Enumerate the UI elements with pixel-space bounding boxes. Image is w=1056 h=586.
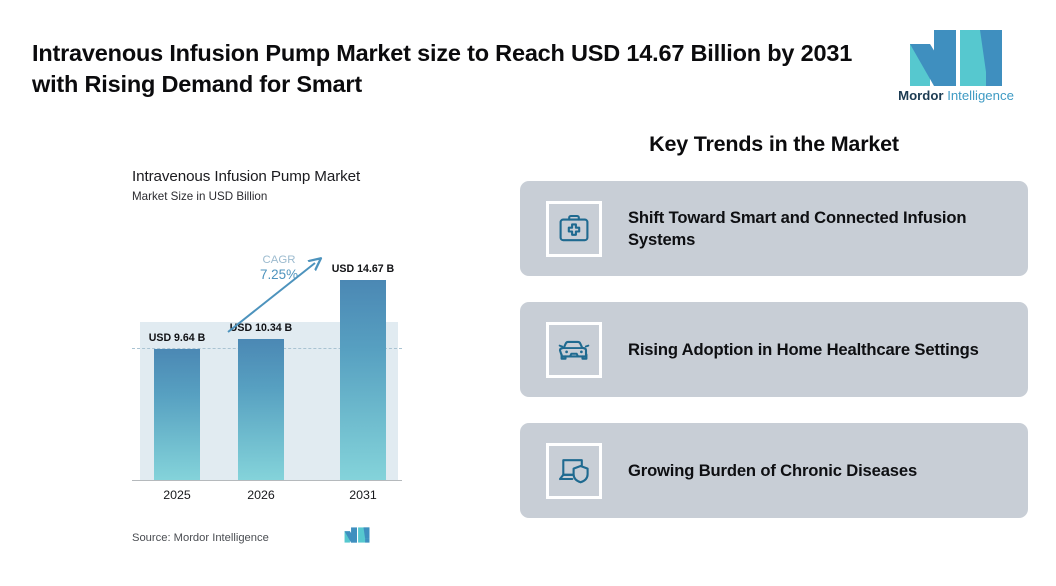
- chart-title: Intravenous Infusion Pump Market: [132, 168, 360, 185]
- brand-word-primary: Mordor: [898, 88, 943, 103]
- brand-word-secondary: Intelligence: [947, 88, 1014, 103]
- key-trends-panel: Key Trends in the Market Shift Toward Sm…: [520, 132, 1028, 518]
- brand-wordmark: Mordor Intelligence: [888, 89, 1024, 102]
- page-title: Intravenous Infusion Pump Market size to…: [32, 38, 862, 101]
- trend-card-label: Shift Toward Smart and Connected Infusio…: [628, 207, 998, 251]
- laptop-shield-icon: [557, 454, 591, 488]
- trend-card-chronic-diseases[interactable]: Growing Burden of Chronic Diseases: [520, 423, 1028, 518]
- cagr-annotation: CAGR 7.25%: [248, 254, 310, 283]
- x-tick-2026: 2026: [226, 488, 296, 502]
- cagr-value: 7.25%: [248, 267, 310, 283]
- mordor-intelligence-mark: [908, 30, 1004, 86]
- chart-plot-area: USD 9.64 B USD 10.34 B USD 14.67 B CAGR …: [132, 232, 402, 502]
- key-trends-heading: Key Trends in the Market: [520, 132, 1028, 157]
- chart-subtitle: Market Size in USD Billion: [132, 190, 267, 203]
- trend-card-smart-connected[interactable]: Shift Toward Smart and Connected Infusio…: [520, 181, 1028, 276]
- trend-card-label: Rising Adoption in Home Healthcare Setti…: [628, 339, 979, 361]
- trend-icon-frame: [546, 201, 602, 257]
- x-tick-2031: 2031: [328, 488, 398, 502]
- x-tick-2025: 2025: [142, 488, 212, 502]
- trend-card-label: Growing Burden of Chronic Diseases: [628, 460, 917, 482]
- trend-icon-frame: [546, 322, 602, 378]
- chart-source-label: Source: Mordor Intelligence: [132, 532, 269, 544]
- header: Intravenous Infusion Pump Market size to…: [0, 0, 1056, 124]
- brand-logo: Mordor Intelligence: [888, 30, 1024, 108]
- infographic-page: Intravenous Infusion Pump Market size to…: [0, 0, 1056, 586]
- chart-panel: Intravenous Infusion Pump Market Market …: [118, 160, 428, 560]
- source-logo-icon: [344, 526, 370, 544]
- medical-kit-icon: [557, 212, 591, 246]
- trend-card-home-healthcare[interactable]: Rising Adoption in Home Healthcare Setti…: [520, 302, 1028, 397]
- cagr-label: CAGR: [248, 254, 310, 267]
- trend-icon-frame: [546, 443, 602, 499]
- car-front-icon: [557, 333, 591, 367]
